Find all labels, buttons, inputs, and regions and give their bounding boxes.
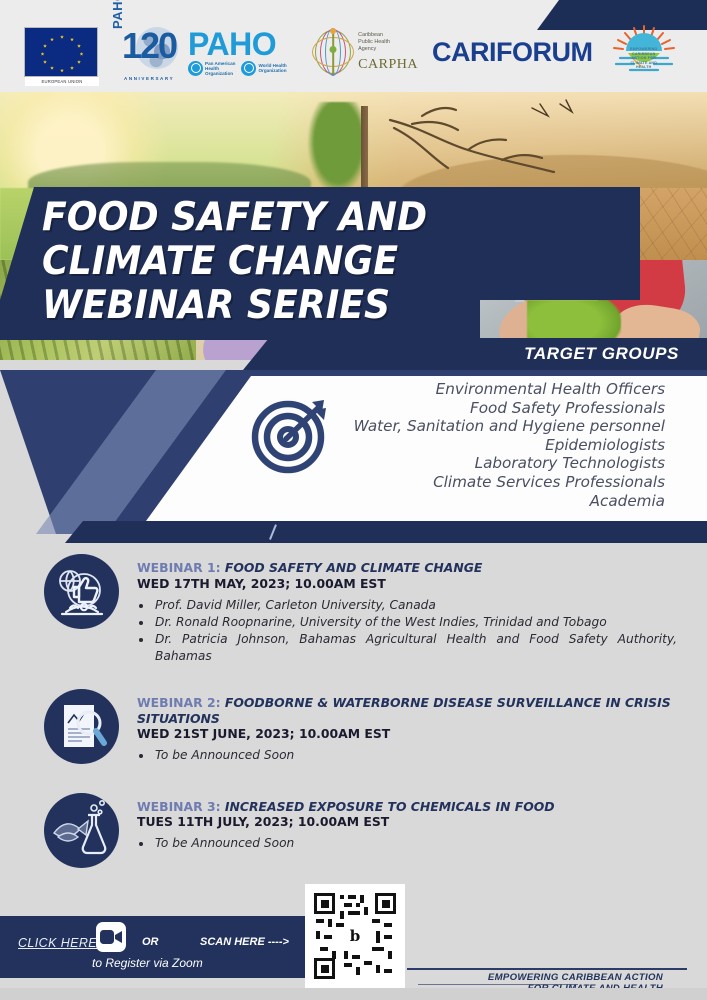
globe-thumbsup-plate-icon — [44, 554, 119, 629]
eu-stars — [25, 28, 97, 76]
webinar-speaker-list: To be Announced Soon — [153, 835, 677, 851]
target-group-item: Epidemiologists — [245, 436, 665, 455]
paho-who-logo: PAHO Pan American Health Organization — [188, 24, 304, 80]
climate-health-logo-text: EMPOWERING CARIBBEAN ACTION FOR CLIMATE … — [624, 47, 663, 70]
carpha-line1: Caribbean — [358, 32, 418, 39]
scan-here-label: SCAN HERE ----> — [200, 936, 289, 948]
webinar-body: WEBINAR 3: INCREASED EXPOSURE TO CHEMICA… — [137, 793, 677, 868]
cariforum-logo: CARIFORUM — [432, 37, 592, 68]
carpha-line3: Agency — [358, 46, 418, 53]
webinar-speaker: Prof. David Miller, Carleton University,… — [153, 597, 677, 613]
target-group-item: Environmental Health Officers — [245, 380, 665, 399]
qr-code-image: b — [314, 893, 396, 979]
webinar-item: WEBINAR 2: FOODBORNE & WATERBORNE DISEAS… — [0, 683, 707, 765]
target-groups-heading: TARGET GROUPS — [524, 344, 679, 364]
webinar-speaker: To be Announced Soon — [153, 747, 677, 763]
page-title: FOOD SAFETY AND CLIMATE CHANGE WEBINAR S… — [42, 196, 600, 328]
target-group-item: Laboratory Technologists — [245, 454, 665, 473]
webinar-date: TUES 11TH JULY, 2023; 10.00AM EST — [137, 814, 677, 830]
paho-120-anniversary-logo: PAHO 120 ANNIVERSARY — [108, 25, 180, 79]
fish-flask-icon — [44, 793, 119, 868]
webinar-heading: WEBINAR 3: INCREASED EXPOSURE TO CHEMICA… — [137, 799, 677, 815]
webinar-list: WEBINAR 1: FOOD SAFETY AND CLIMATE CHANG… — [0, 548, 707, 868]
webinar-date: WED 21ST JUNE, 2023; 10.00AM EST — [137, 726, 677, 742]
paho-suborgs: Pan American Health Organization World H… — [188, 61, 304, 77]
hero-section: FOOD SAFETY AND CLIMATE CHANGE WEBINAR S… — [0, 92, 707, 360]
hero-dead-branches — [382, 98, 612, 198]
footer-or-label: OR — [142, 936, 159, 948]
who-org-line2: Organization — [258, 68, 286, 73]
webinar-speaker: To be Announced Soon — [153, 835, 677, 851]
target-groups-bottom-bar — [65, 521, 707, 543]
zoom-video-icon[interactable] — [96, 922, 126, 952]
webinar-title: FOOD SAFETY AND CLIMATE CHANGE — [225, 560, 483, 575]
carpha-logo: Caribbean Public Health Agency CARPHA — [310, 23, 418, 81]
paho-wordmark: PAHO — [188, 28, 304, 60]
target-groups-slash-accent — [272, 524, 296, 538]
eu-flag-icon: EUROPEAN UNION — [24, 27, 98, 77]
european-union-logo: EUROPEAN UNION — [24, 27, 98, 77]
world-health-org: World Health Organization — [241, 61, 286, 77]
pan-american-health-org: Pan American Health Organization — [188, 61, 235, 77]
carpha-line2: Public Health — [358, 39, 418, 46]
webinar-speaker-list: To be Announced Soon — [153, 747, 677, 763]
webinar-body: WEBINAR 2: FOODBORNE & WATERBORNE DISEAS… — [137, 689, 677, 765]
eu-caption: EUROPEAN UNION — [25, 77, 99, 86]
paho-120-anniversary-text: ANNIVERSARY — [124, 76, 174, 81]
webinar-item: WEBINAR 3: INCREASED EXPOSURE TO CHEMICA… — [0, 787, 707, 868]
webinar-number: WEBINAR 3: — [137, 799, 221, 814]
register-via-zoom-label: to Register via Zoom — [92, 956, 203, 970]
webinar-number: WEBINAR 1: — [137, 560, 221, 575]
webinar-speaker: Dr. Ronald Roopnarine, University of the… — [153, 614, 677, 630]
target-groups-list: Environmental Health Officers Food Safet… — [245, 380, 665, 510]
poster-root: EUROPEAN UNION PAHO 120 ANNIVERSARY PAHO — [0, 0, 707, 1000]
webinar-speaker: Dr. Patricia Johnson, Bahamas Agricultur… — [153, 631, 677, 664]
webinar-body: WEBINAR 1: FOOD SAFETY AND CLIMATE CHANG… — [137, 554, 677, 665]
webinar-heading: WEBINAR 2: FOODBORNE & WATERBORNE DISEAS… — [137, 695, 677, 726]
webinar-date: WED 17TH MAY, 2023; 10.00AM EST — [137, 576, 677, 592]
document-magnifier-icon — [44, 689, 119, 764]
qr-code[interactable]: b — [305, 884, 405, 988]
footer: CLICK HERE OR SCAN HERE ----> to Registe… — [0, 880, 707, 1000]
webinar-heading: WEBINAR 1: FOOD SAFETY AND CLIMATE CHANG… — [137, 560, 677, 576]
logo-bar: EUROPEAN UNION PAHO 120 ANNIVERSARY PAHO — [0, 0, 707, 92]
carpha-caduceus-icon — [310, 26, 356, 78]
paho-org-line3: Organization — [205, 71, 235, 76]
climate-health-logo: EMPOWERING CARIBBEAN ACTION FOR CLIMATE … — [604, 24, 683, 80]
paho-120-number: 120 — [122, 25, 176, 67]
footer-bottom-strip — [0, 988, 707, 1000]
webinar-speaker-list: Prof. David Miller, Carleton University,… — [153, 597, 677, 665]
target-group-item: Academia — [245, 492, 665, 511]
qr-center-logo: b — [342, 923, 368, 949]
carpha-acronym: CARPHA — [358, 57, 418, 73]
logo-row: EUROPEAN UNION PAHO 120 ANNIVERSARY PAHO — [0, 22, 707, 82]
footer-rule-top — [407, 968, 687, 970]
webinar-number: WEBINAR 2: — [137, 695, 221, 710]
target-group-item: Food Safety Professionals — [245, 399, 665, 418]
webinar-title: INCREASED EXPOSURE TO CHEMICALS IN FOOD — [225, 799, 555, 814]
target-group-item: Water, Sanitation and Hygiene personnel — [245, 417, 665, 436]
paho-seal-icon — [188, 61, 203, 76]
webinar-item: WEBINAR 1: FOOD SAFETY AND CLIMATE CHANG… — [0, 548, 707, 665]
target-group-item: Climate Services Professionals — [245, 473, 665, 492]
click-here-link[interactable]: CLICK HERE — [18, 936, 97, 950]
who-seal-icon — [241, 61, 256, 76]
